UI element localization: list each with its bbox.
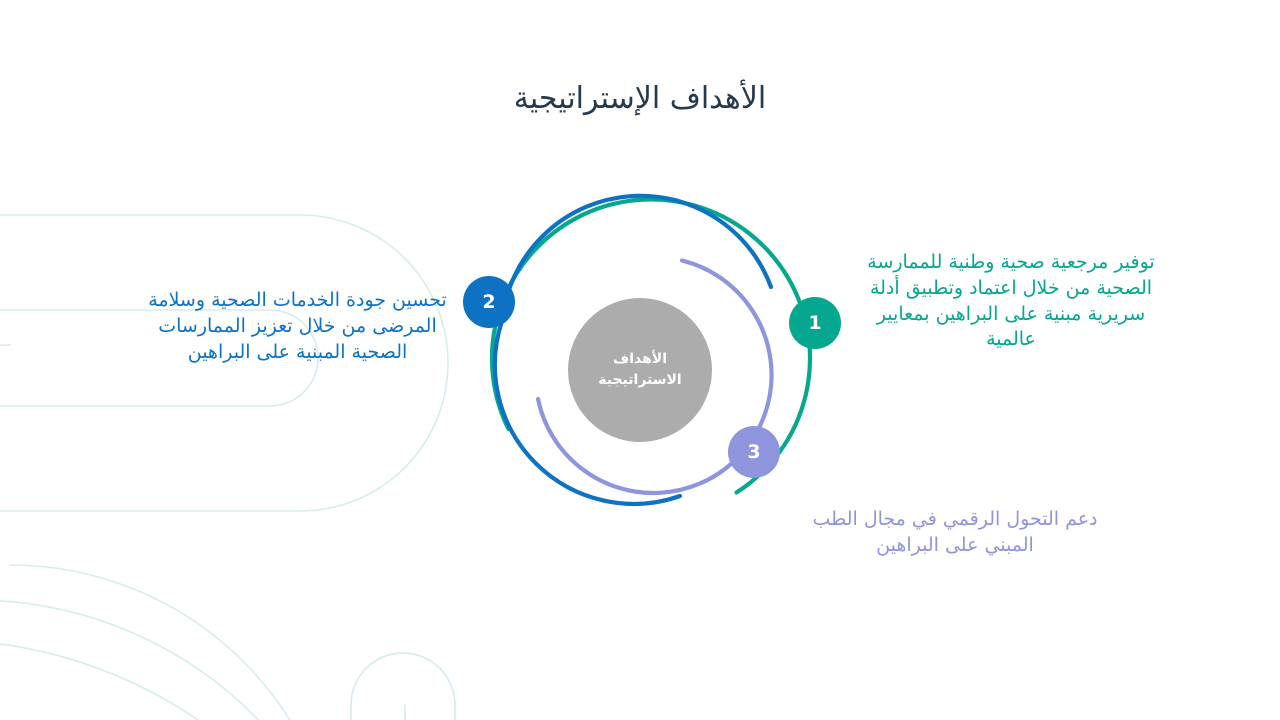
arc-middle-blue-upper (504, 196, 771, 310)
objective-text-3: دعم التحول الرقمي في مجال الطب المبني عل… (795, 507, 1115, 559)
objective-badge-1-number: 1 (808, 312, 821, 334)
objectives-ring-diagram: الأهداف الاستراتيجية 1 2 3 توفير مرجعية … (0, 0, 1280, 720)
objective-text-1: توفير مرجعية صحية وطنية للممارسة الصحية … (866, 250, 1156, 353)
objective-badge-1[interactable]: 1 (789, 297, 841, 349)
objective-badge-2[interactable]: 2 (463, 276, 515, 328)
objective-text-2: تحسين جودة الخدمات الصحية وسلامة المرضى … (140, 288, 455, 365)
center-hub-label: الأهداف الاستراتيجية (568, 349, 712, 391)
center-hub: الأهداف الاستراتيجية (568, 298, 712, 442)
objective-badge-2-number: 2 (482, 291, 495, 313)
slide-canvas: الأهداف الإستراتيجية الأهداف الاستراتيجي… (0, 0, 1280, 720)
objective-badge-3-number: 3 (747, 441, 760, 463)
objective-badge-3[interactable]: 3 (728, 426, 780, 478)
